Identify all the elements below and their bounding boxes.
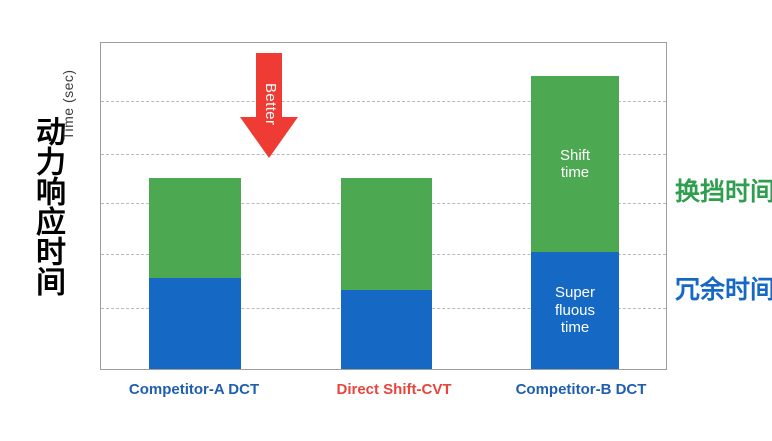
category-label-competitor-b: Competitor-B DCT xyxy=(500,381,662,398)
bar-segment-shift-time[interactable] xyxy=(149,178,241,278)
bar-segment-superfluous-time[interactable]: Super fluous time xyxy=(531,252,619,369)
stacked-bar[interactable]: Shift timeSuper fluous time xyxy=(531,76,619,369)
bar-segment-superfluous-time[interactable] xyxy=(341,290,432,369)
bar-segment-shift-time[interactable]: Shift time xyxy=(531,76,619,252)
chart-root: 动力响应时间 Time (sec) Shift timeSuper fluous… xyxy=(0,0,772,441)
bar-segment-superfluous-time[interactable] xyxy=(149,278,241,369)
legend-superfluous-time: 冗余时间 xyxy=(675,270,772,306)
y-axis-title-english: Time (sec) xyxy=(60,69,76,140)
better-down-arrow-icon xyxy=(240,53,298,158)
stacked-bar[interactable] xyxy=(149,178,241,369)
stacked-bar[interactable] xyxy=(341,178,432,369)
plot-area: Shift timeSuper fluous time xyxy=(100,42,667,370)
bar-segment-shift-time[interactable] xyxy=(341,178,432,290)
y-axis-title-chinese: 动力响应时间 xyxy=(14,108,62,304)
category-label-competitor-a: Competitor-A DCT xyxy=(113,381,275,398)
legend-shift-time: 换挡时间 xyxy=(675,172,772,208)
category-label-direct-shift-cvt: Direct Shift-CVT xyxy=(313,381,475,398)
